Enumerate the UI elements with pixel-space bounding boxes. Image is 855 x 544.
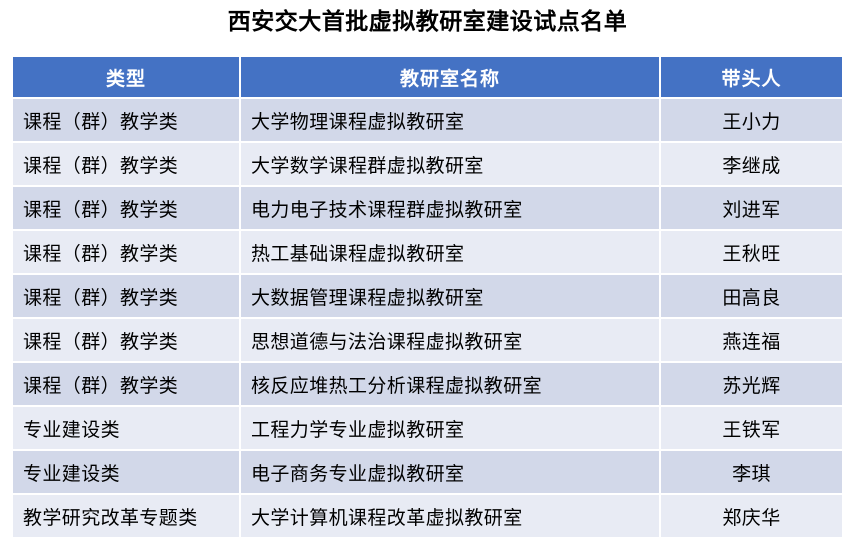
- table-row: 教学研究改革专题类 大学计算机课程改革虚拟教研室 郑庆华: [13, 495, 842, 537]
- cell-leader: 李琪: [661, 451, 842, 493]
- table-row: 专业建设类 工程力学专业虚拟教研室 王铁军: [13, 407, 842, 449]
- table-row: 专业建设类 电子商务专业虚拟教研室 李琪: [13, 451, 842, 493]
- table-row: 课程（群）教学类 热工基础课程虚拟教研室 王秋旺: [13, 231, 842, 273]
- cell-leader: 燕连福: [661, 319, 842, 361]
- table-header-row: 类型 教研室名称 带头人: [13, 57, 842, 97]
- cell-name: 大学计算机课程改革虚拟教研室: [241, 495, 659, 537]
- table-row: 课程（群）教学类 电力电子技术课程群虚拟教研室 刘进军: [13, 187, 842, 229]
- cell-leader: 李继成: [661, 143, 842, 185]
- cell-leader: 刘进军: [661, 187, 842, 229]
- cell-name: 思想道德与法治课程虚拟教研室: [241, 319, 659, 361]
- cell-name: 核反应堆热工分析课程虚拟教研室: [241, 363, 659, 405]
- cell-leader: 王秋旺: [661, 231, 842, 273]
- cell-type: 课程（群）教学类: [13, 231, 239, 273]
- cell-type: 教学研究改革专题类: [13, 495, 239, 537]
- column-header-leader: 带头人: [661, 57, 842, 97]
- cell-leader: 郑庆华: [661, 495, 842, 537]
- cell-leader: 王小力: [661, 99, 842, 141]
- cell-leader: 田高良: [661, 275, 842, 317]
- table-header: 类型 教研室名称 带头人: [13, 57, 842, 97]
- cell-type: 课程（群）教学类: [13, 319, 239, 361]
- table-row: 课程（群）教学类 大数据管理课程虚拟教研室 田高良: [13, 275, 842, 317]
- cell-type: 课程（群）教学类: [13, 363, 239, 405]
- cell-type: 课程（群）教学类: [13, 143, 239, 185]
- cell-name: 大学数学课程群虚拟教研室: [241, 143, 659, 185]
- table-row: 课程（群）教学类 大学物理课程虚拟教研室 王小力: [13, 99, 842, 141]
- cell-leader: 苏光辉: [661, 363, 842, 405]
- cell-type: 课程（群）教学类: [13, 99, 239, 141]
- table-row: 课程（群）教学类 思想道德与法治课程虚拟教研室 燕连福: [13, 319, 842, 361]
- cell-name: 大学物理课程虚拟教研室: [241, 99, 659, 141]
- document-page: 西安交大首批虚拟教研室建设试点名单 类型 教研室名称 带头人 课程（群）教学类 …: [0, 0, 855, 544]
- cell-type: 专业建设类: [13, 407, 239, 449]
- cell-leader: 王铁军: [661, 407, 842, 449]
- cell-name: 热工基础课程虚拟教研室: [241, 231, 659, 273]
- cell-type: 课程（群）教学类: [13, 187, 239, 229]
- cell-name: 电子商务专业虚拟教研室: [241, 451, 659, 493]
- cell-name: 大数据管理课程虚拟教研室: [241, 275, 659, 317]
- table-row: 课程（群）教学类 大学数学课程群虚拟教研室 李继成: [13, 143, 842, 185]
- column-header-name: 教研室名称: [241, 57, 659, 97]
- cell-name: 电力电子技术课程群虚拟教研室: [241, 187, 659, 229]
- column-header-type: 类型: [13, 57, 239, 97]
- cell-type: 课程（群）教学类: [13, 275, 239, 317]
- page-title: 西安交大首批虚拟教研室建设试点名单: [0, 0, 855, 35]
- table-row: 课程（群）教学类 核反应堆热工分析课程虚拟教研室 苏光辉: [13, 363, 842, 405]
- cell-name: 工程力学专业虚拟教研室: [241, 407, 659, 449]
- cell-type: 专业建设类: [13, 451, 239, 493]
- pilot-list-table: 类型 教研室名称 带头人 课程（群）教学类 大学物理课程虚拟教研室 王小力 课程…: [11, 55, 844, 539]
- table-container: 类型 教研室名称 带头人 课程（群）教学类 大学物理课程虚拟教研室 王小力 课程…: [11, 35, 844, 539]
- table-body: 课程（群）教学类 大学物理课程虚拟教研室 王小力 课程（群）教学类 大学数学课程…: [13, 99, 842, 537]
